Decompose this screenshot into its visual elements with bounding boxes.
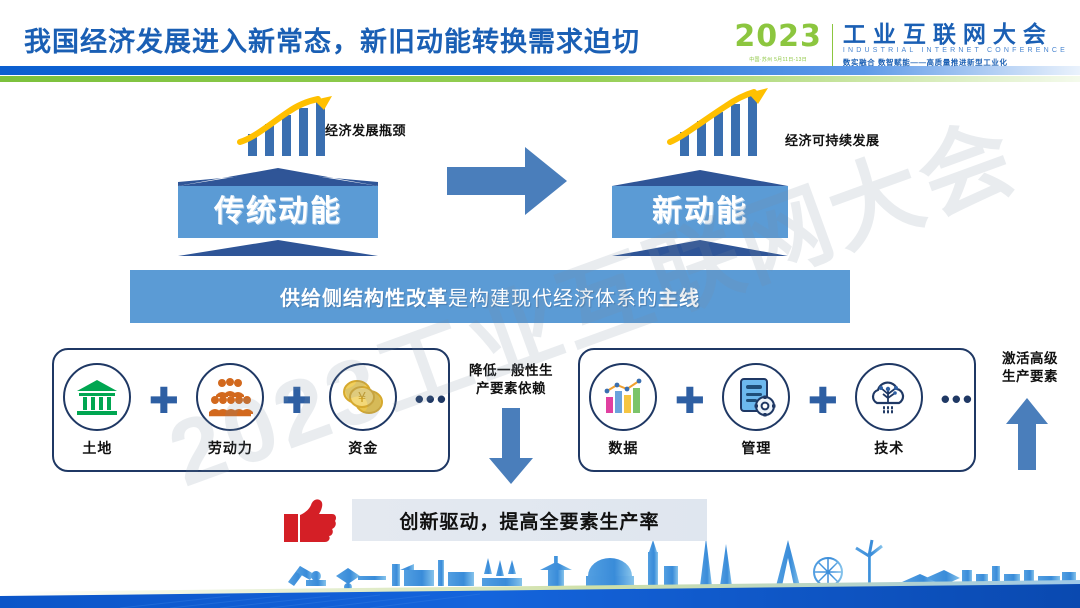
right-card-ellipsis: ••• bbox=[941, 386, 974, 412]
reform-banner-text: 供给侧结构性改革是构建现代经济体系的主线 bbox=[280, 282, 700, 311]
people-group-icon bbox=[196, 363, 264, 431]
left-card-ellipsis: ••• bbox=[415, 386, 448, 412]
reduce-dependence-line1: 降低一般性生 bbox=[455, 362, 567, 380]
innovation-banner: 创新驱动，提高全要素生产率 bbox=[352, 499, 707, 541]
new-factors-card: 数据 ✚ 管理 ✚ bbox=[578, 348, 976, 472]
logo-year-text: 2023 bbox=[734, 22, 822, 52]
reform-banner: 供给侧结构性改革是构建现代经济体系的主线 bbox=[130, 270, 850, 323]
reform-banner-part1: 供给侧结构性改革 bbox=[280, 288, 448, 310]
factor-capital[interactable]: ¥ 资金 bbox=[320, 363, 407, 458]
factor-management-label: 管理 bbox=[741, 438, 771, 458]
skyline-footer bbox=[0, 530, 1080, 608]
factor-technology[interactable]: 技术 bbox=[846, 363, 933, 458]
logo-date-text: 中国·苏州 5月11日-13日 bbox=[749, 56, 807, 63]
reduce-dependence-line2: 产要素依赖 bbox=[455, 380, 567, 398]
reform-banner-part3: 主线 bbox=[658, 288, 700, 310]
factor-labor-label: 劳动力 bbox=[208, 438, 253, 458]
factor-data-label: 数据 bbox=[608, 438, 638, 458]
logo-name-block: 工业互联网大会 INDUSTRIAL INTERNET CONFERENCE 数… bbox=[843, 22, 1068, 68]
factor-labor[interactable]: 劳动力 bbox=[187, 363, 274, 458]
activate-factors-line2: 生产要素 bbox=[984, 368, 1076, 386]
page-title: 我国经济发展进入新常态，新旧动能转换需求迫切 bbox=[24, 20, 640, 59]
plus-sign-left-1: ✚ bbox=[149, 383, 179, 419]
header-rule-green bbox=[0, 76, 1080, 82]
logo-year-block: 2023 中国·苏州 5月11日-13日 bbox=[734, 22, 832, 63]
factor-management[interactable]: 管理 bbox=[713, 363, 800, 458]
plus-sign-left-2: ✚ bbox=[282, 383, 312, 419]
logo-name-cn: 工业互联网大会 bbox=[843, 22, 1068, 46]
factor-land-label: 土地 bbox=[82, 438, 112, 458]
thumbs-up-icon bbox=[282, 498, 338, 549]
plus-sign-right-1: ✚ bbox=[675, 383, 705, 419]
chevron-up-icon-bottom bbox=[178, 238, 378, 256]
plus-sign-right-2: ✚ bbox=[808, 383, 838, 419]
conference-logo: 2023 中国·苏州 5月11日-13日 工业互联网大会 INDUSTRIAL … bbox=[734, 22, 1068, 68]
new-momentum-label: 新动能 bbox=[612, 186, 788, 238]
document-gear-icon bbox=[722, 363, 790, 431]
logo-slogan: 数实融合 数智赋能——高质量推进新型工业化 bbox=[843, 57, 1068, 68]
slide-canvas: 我国经济发展进入新常态，新旧动能转换需求迫切 2023 中国·苏州 5月11日-… bbox=[0, 0, 1080, 608]
bank-building-icon bbox=[63, 363, 131, 431]
arrow-down-icon bbox=[487, 408, 535, 491]
traditional-momentum-label: 传统动能 bbox=[178, 186, 378, 238]
activate-factors-line1: 激活高级 bbox=[984, 350, 1076, 368]
left-chart-caption: 经济发展瓶颈 bbox=[325, 120, 406, 139]
arrow-up-icon bbox=[1004, 398, 1050, 475]
factor-data[interactable]: 数据 bbox=[580, 363, 667, 458]
activate-factors-caption: 激活高级 生产要素 bbox=[984, 350, 1076, 386]
innovation-banner-text: 创新驱动，提高全要素生产率 bbox=[399, 507, 659, 534]
reduce-dependence-caption: 降低一般性生 产要素依赖 bbox=[455, 362, 567, 398]
right-chart-caption: 经济可持续发展 bbox=[785, 130, 880, 149]
factor-capital-label: 资金 bbox=[348, 438, 378, 458]
coins-icon: ¥ bbox=[329, 363, 397, 431]
traditional-factors-card: 土地 ✚ 劳动力 bbox=[52, 348, 450, 472]
cloud-tech-icon bbox=[855, 363, 923, 431]
svg-text:¥: ¥ bbox=[358, 391, 366, 406]
bar-chart-icon bbox=[589, 363, 657, 431]
logo-divider bbox=[832, 24, 833, 66]
traditional-momentum-block: 传统动能 bbox=[178, 168, 378, 256]
new-momentum-block: 新动能 bbox=[612, 168, 788, 256]
transition-arrow-icon bbox=[447, 145, 569, 222]
factor-technology-label: 技术 bbox=[874, 438, 904, 458]
reform-banner-part2: 是构建现代经济体系的 bbox=[448, 288, 658, 310]
chevron-up-icon-top bbox=[178, 168, 378, 186]
chevron-up-icon-bottom-right bbox=[612, 238, 788, 256]
chevron-up-icon-top-right bbox=[612, 168, 788, 186]
logo-name-en: INDUSTRIAL INTERNET CONFERENCE bbox=[843, 47, 1068, 54]
factor-land[interactable]: 土地 bbox=[54, 363, 141, 458]
right-growth-chart bbox=[664, 88, 780, 156]
